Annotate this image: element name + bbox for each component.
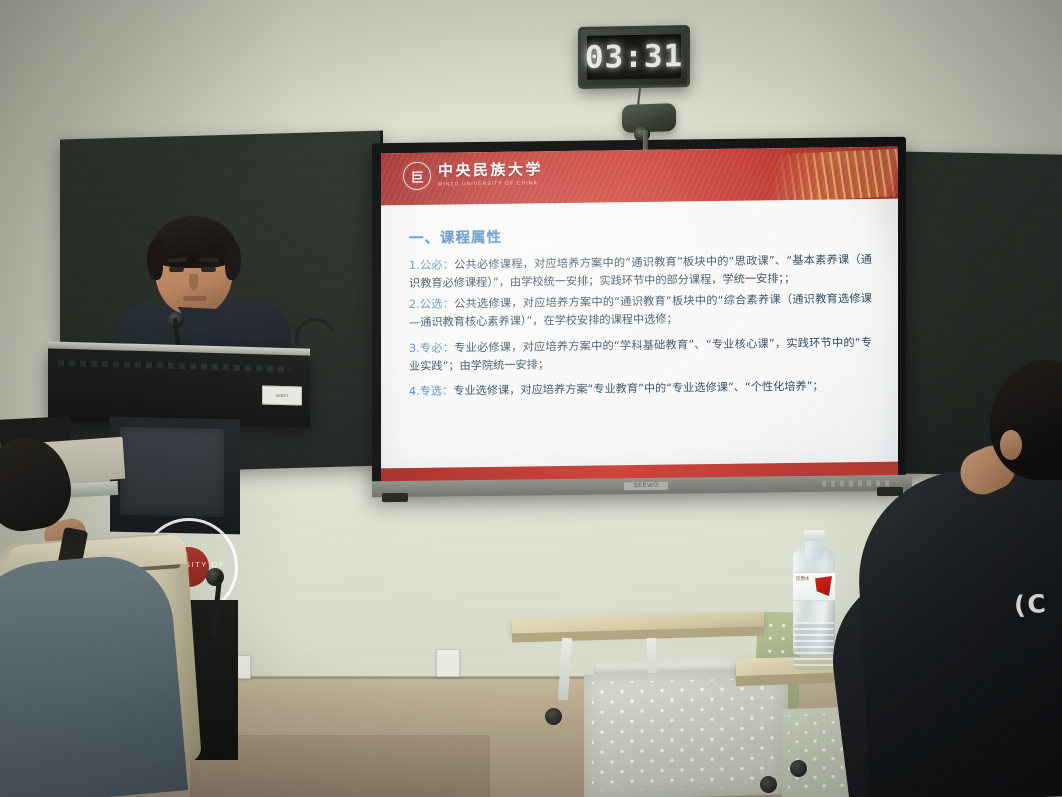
wall-outlet (436, 649, 460, 677)
lecturer-hair-side (225, 240, 241, 280)
slide-banner: 巨 中央民族大学 MINZU UNIVERSITY OF CHINA (381, 147, 898, 206)
university-logo-text: 中央民族大学 MINZU UNIVERSITY OF CHINA (438, 162, 543, 187)
jacket-logo-text: (C (1013, 589, 1049, 620)
water-bottle: 饮用水 (793, 530, 835, 655)
foreground-student-body (0, 551, 188, 797)
university-name-en: MINZU UNIVERSITY OF CHINA (438, 180, 543, 187)
podium-front-panel (120, 427, 224, 517)
paragraph-lead: 2.公选： (409, 298, 454, 312)
bottle-body (793, 548, 835, 655)
paragraph-text: 专业必修课，对应培养方案中的“学科基础教育”、“专业核心课”，实践环节中的“专业… (409, 336, 872, 373)
golden-fan-icon (770, 148, 898, 202)
paragraph-lead: 4.专选： (409, 384, 453, 398)
desk-caster-wheel (545, 708, 562, 725)
student-jacket (854, 464, 1062, 797)
bottle-ribs (794, 622, 834, 670)
ceiling-camera (622, 103, 676, 133)
paragraph-text: 公共选修课，对应培养方案中的“通识教育”板块中的“综合素养课（通识教育选修课—通… (409, 292, 872, 329)
clock-face: 03:31 (587, 34, 681, 80)
lecturer-mouth (183, 296, 207, 301)
projector-slide: 巨 中央民族大学 MINZU UNIVERSITY OF CHINA 一、课程属… (381, 147, 898, 484)
slide-paragraph: 4.专选：专业选修课，对应培养方案“专业教育”中的“专业选修课”、“个性化培养”… (409, 377, 872, 401)
slide-title: 一、课程属性 (409, 221, 872, 248)
bottle-label-graphic (815, 576, 832, 596)
university-name-cn: 中央民族大学 (438, 162, 543, 179)
desk-modesty-panel (584, 669, 788, 797)
university-seal-icon: 巨 (403, 162, 431, 190)
university-logo: 巨 中央民族大学 MINZU UNIVERSITY OF CHINA (403, 160, 543, 190)
display-brand-label: SEEWO (624, 482, 668, 491)
classroom-photo-scene: 03:31 巨 中央民族大学 MINZU UNIVERSITY OF CHINA… (0, 0, 1062, 797)
paragraph-lead: 3.专必： (409, 341, 454, 355)
student-ear (1000, 430, 1022, 460)
lecturer-nose (189, 274, 198, 290)
bottle-cap (803, 530, 825, 541)
bottle-label: 饮用水 (793, 572, 835, 601)
lecturer-hair-side (147, 240, 163, 280)
podium-asset-label: ASSET (262, 385, 302, 405)
desk-caster-wheel (790, 760, 807, 777)
slide-paragraph: 2.公选：公共选修课，对应培养方案中的“通识教育”板块中的“综合素养课（通识教育… (409, 290, 872, 332)
desk-caster-wheel (760, 776, 777, 793)
slide-paragraph: 3.专必：专业必修课，对应培养方案中的“学科基础教育”、“专业核心课”，实践环节… (409, 334, 872, 376)
lecturer-eye (169, 267, 184, 272)
bezel-bracket (382, 493, 408, 502)
bezel-control-buttons[interactable] (822, 480, 892, 487)
paragraph-text: 专业选修课，对应培养方案“专业教育”中的“专业选修课”、“个性化培养”； (453, 379, 823, 397)
paragraph-text: 公共必修课程，对应培养方案中的“通识教育”板块中的“思政课”、“基本素养课（通识… (409, 253, 872, 290)
slide-content: 一、课程属性 1.公必：公共必修课程，对应培养方案中的“通识教育”板块中的“思政… (381, 199, 898, 402)
lecturer-eye (201, 267, 216, 272)
slide-paragraph: 1.公必：公共必修课程，对应培养方案中的“通识教育”板块中的“思政课”、“基本素… (409, 251, 872, 293)
clock-time-digits: 03:31 (585, 41, 683, 74)
bottle-label-text: 饮用水 (796, 577, 810, 583)
panel-perforations (592, 678, 780, 792)
paragraph-lead: 1.公必： (409, 258, 454, 272)
wall-digital-clock: 03:31 (578, 25, 690, 89)
